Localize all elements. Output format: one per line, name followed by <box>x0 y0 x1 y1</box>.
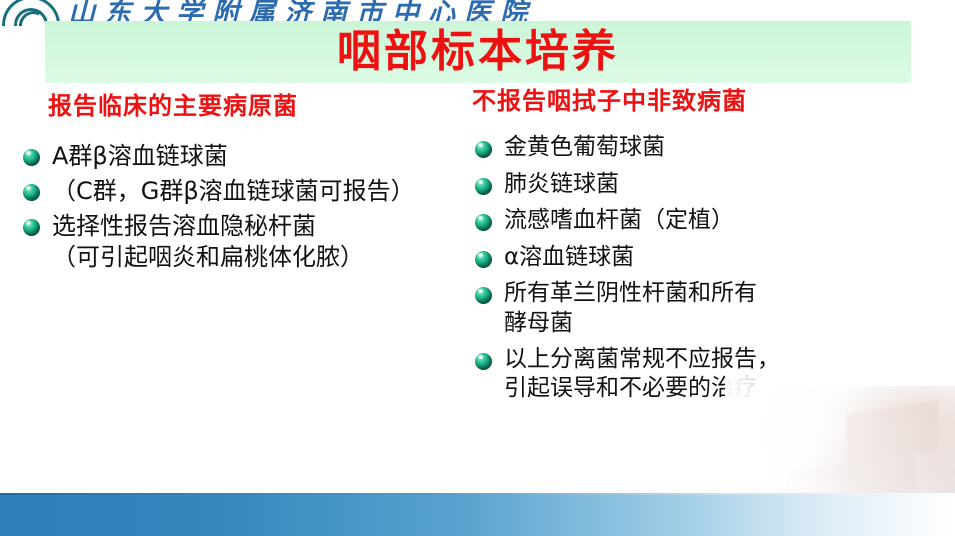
column-right-list: 金黄色葡萄球菌 肺炎链球菌 流感嗜血杆菌（定植） α溶血链球菌 所有革兰阴性杆菌… <box>470 133 940 404</box>
list-item: A群β溶血链球菌 <box>18 141 488 172</box>
list-item: 所有革兰阴性杆菌和所有 酵母菌 <box>470 279 940 338</box>
column-left-list: A群β溶血链球菌 （C群，G群β溶血链球菌可报告） 选择性报告溶血隐秘杆菌 （可… <box>18 141 488 272</box>
list-item: （C群，G群β溶血链球菌可报告） <box>18 176 488 207</box>
list-item: 流感嗜血杆菌（定植） <box>470 206 940 235</box>
list-item-label: 流感嗜血杆菌（定植） <box>504 206 940 235</box>
bullet-sphere-icon <box>475 287 492 304</box>
slide-canvas: 山东大学附属济南市中心医院 咽部标本培养 报告临床的主要病原菌 A群β溶血链球菌… <box>0 0 955 536</box>
bullet-sphere-icon <box>475 251 492 268</box>
bullet-sphere-icon <box>23 184 40 201</box>
list-item-label: α溶血链球菌 <box>504 243 940 272</box>
list-item-label: 所有革兰阴性杆菌和所有 酵母菌 <box>504 279 940 338</box>
slide-title: 咽部标本培养 <box>337 30 619 74</box>
bullet-sphere-icon <box>475 214 492 231</box>
list-item: 金黄色葡萄球菌 <box>470 133 940 162</box>
column-right-heading: 不报告咽拭子中非致病菌 <box>472 88 940 114</box>
bullet-sphere-icon <box>475 353 492 370</box>
title-banner: 咽部标本培养 <box>45 21 911 83</box>
column-left-heading: 报告临床的主要病原菌 <box>48 93 488 119</box>
list-item-label: 肺炎链球菌 <box>504 170 940 199</box>
column-right: 不报告咽拭子中非致病菌 金黄色葡萄球菌 肺炎链球菌 流感嗜血杆菌（定植） α溶血… <box>470 88 940 411</box>
bullet-sphere-icon <box>475 141 492 158</box>
list-item: α溶血链球菌 <box>470 243 940 272</box>
list-item-label: A群β溶血链球菌 <box>52 141 488 172</box>
list-item: 肺炎链球菌 <box>470 170 940 199</box>
list-item: 选择性报告溶血隐秘杆菌 （可引起咽炎和扁桃体化脓） <box>18 211 488 272</box>
bullet-sphere-icon <box>23 149 40 166</box>
column-left: 报告临床的主要病原菌 A群β溶血链球菌 （C群，G群β溶血链球菌可报告） 选择性… <box>18 88 488 276</box>
bullet-sphere-icon <box>475 178 492 195</box>
list-item-label: 选择性报告溶血隐秘杆菌 （可引起咽炎和扁桃体化脓） <box>52 211 488 272</box>
bullet-sphere-icon <box>23 219 40 236</box>
list-item-label: 金黄色葡萄球菌 <box>504 133 940 162</box>
bottom-decoration-bar <box>0 495 955 536</box>
list-item-label: （C群，G群β溶血链球菌可报告） <box>52 176 488 207</box>
